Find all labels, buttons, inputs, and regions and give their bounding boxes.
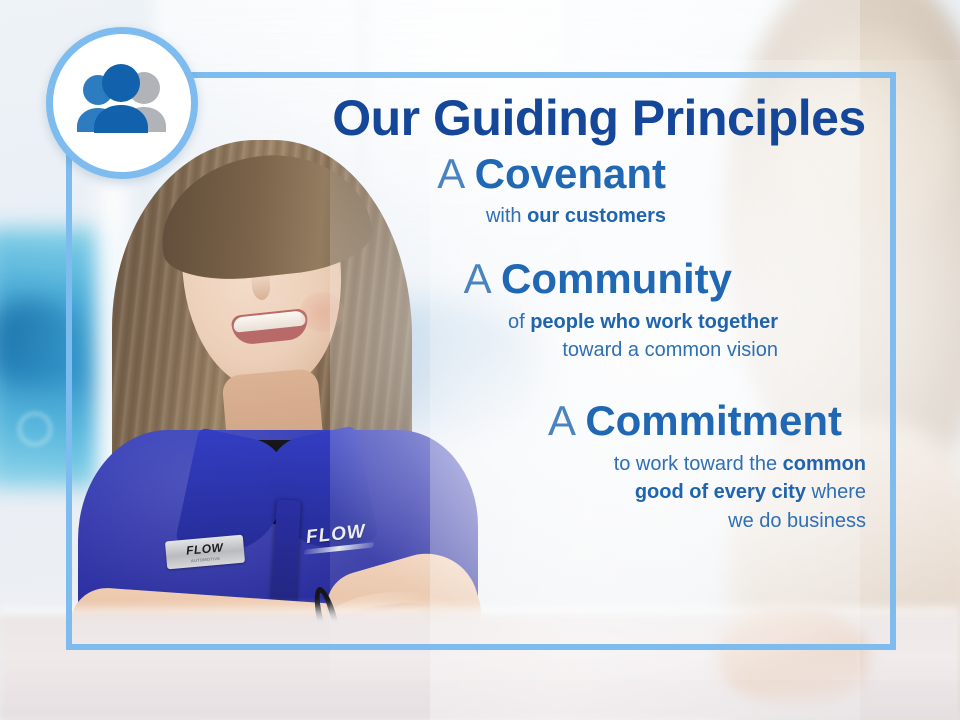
principle-commitment-subtext: to work toward the common good of every … [300, 450, 880, 535]
commitment-sub-line1-plain: to work toward the [614, 453, 783, 475]
people-badge [46, 27, 198, 179]
principle-covenant: A Covenant with our customers [300, 151, 880, 231]
employee-teeth [233, 310, 306, 332]
name-badge-subtext: AUTOMOTIVE [191, 555, 221, 563]
principle-community-title: A Community [300, 256, 880, 301]
covenant-sub-plain: with [486, 205, 527, 227]
people-group-icon [68, 64, 176, 142]
page-title: Our Guiding Principles [318, 92, 880, 145]
covenant-sub-bold: our customers [527, 205, 666, 227]
principle-commitment-article: A [548, 397, 585, 444]
community-sub-line2: toward a common vision [562, 339, 778, 361]
principle-covenant-keyword: Covenant [475, 150, 666, 197]
commitment-sub-line2-bold: good of every city [635, 481, 806, 503]
principle-covenant-title: A Covenant [300, 151, 880, 196]
showroom-brand-emblem [18, 412, 52, 446]
customer-hand [718, 606, 868, 702]
community-sub-line1-plain: of [508, 311, 530, 333]
guiding-principles-graphic: FLOW FLOW AUTOMOTIVE [0, 0, 960, 720]
commitment-sub-line1-bold: common [783, 453, 866, 475]
principle-community-subtext: of people who work together toward a com… [300, 308, 880, 365]
showroom-screen-car [0, 300, 82, 386]
commitment-sub-line2-plain: where [806, 481, 866, 503]
principle-community: A Community of people who work together … [300, 256, 880, 364]
principle-commitment-keyword: Commitment [585, 397, 842, 444]
name-badge-brand: FLOW [186, 541, 224, 556]
principle-community-keyword: Community [501, 255, 732, 302]
principle-commitment-title: A Commitment [300, 398, 880, 443]
principle-community-article: A [464, 255, 501, 302]
principle-covenant-subtext: with our customers [300, 202, 880, 230]
commitment-sub-line3: we do business [728, 510, 866, 532]
principle-commitment: A Commitment to work toward the common g… [300, 398, 880, 535]
principles-copy: Our Guiding Principles A Covenant with o… [300, 92, 880, 535]
community-sub-line1-bold: people who work together [530, 311, 778, 333]
principle-covenant-article: A [437, 150, 474, 197]
